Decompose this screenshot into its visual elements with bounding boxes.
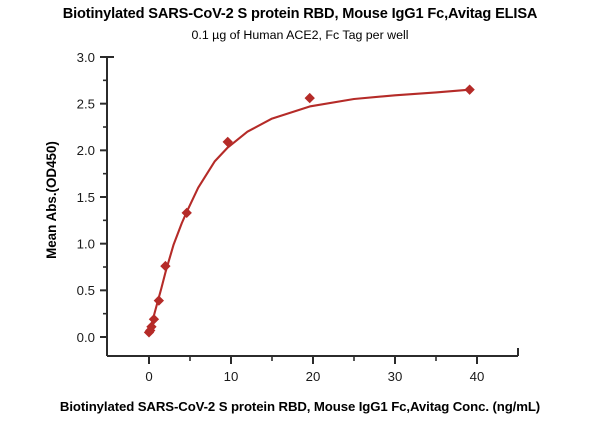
svg-text:2.0: 2.0 bbox=[77, 143, 95, 158]
axis-spines bbox=[107, 57, 518, 356]
data-markers bbox=[144, 85, 474, 337]
data-point bbox=[305, 93, 314, 102]
svg-text:40: 40 bbox=[470, 369, 485, 384]
svg-text:2.5: 2.5 bbox=[77, 96, 95, 111]
svg-text:0.0: 0.0 bbox=[77, 330, 95, 345]
plot-area: 0.00.51.01.52.02.53.0 010203040 bbox=[0, 0, 600, 421]
svg-text:1.5: 1.5 bbox=[77, 190, 95, 205]
svg-text:10: 10 bbox=[224, 369, 239, 384]
svg-text:20: 20 bbox=[306, 369, 321, 384]
axis-ticks-y: 0.00.51.01.52.02.53.0 bbox=[77, 50, 107, 345]
data-point bbox=[154, 296, 163, 305]
data-point bbox=[182, 208, 191, 217]
svg-text:1.0: 1.0 bbox=[77, 236, 95, 251]
svg-text:0.5: 0.5 bbox=[77, 283, 95, 298]
fit-curve bbox=[149, 90, 470, 334]
svg-text:3.0: 3.0 bbox=[77, 50, 95, 65]
data-point bbox=[465, 85, 474, 94]
svg-text:0: 0 bbox=[145, 369, 152, 384]
svg-text:30: 30 bbox=[388, 369, 403, 384]
elisa-chart-figure: Biotinylated SARS-CoV-2 S protein RBD, M… bbox=[0, 0, 600, 421]
axis-ticks-x: 010203040 bbox=[145, 356, 484, 384]
